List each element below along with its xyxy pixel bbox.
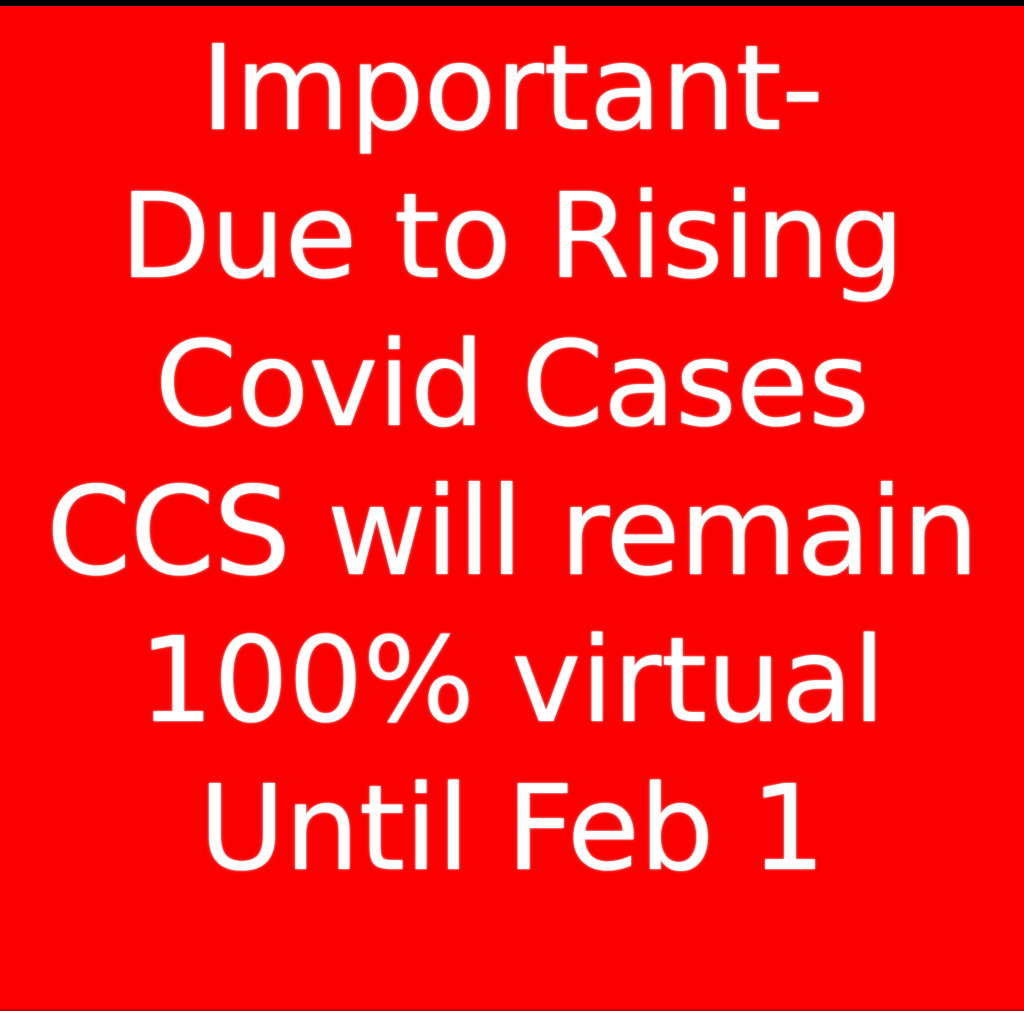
- announcement-poster: Important- Due to Rising Covid Cases CCS…: [0, 0, 1024, 1011]
- announcement-message: Important- Due to Rising Covid Cases CCS…: [0, 0, 1024, 902]
- message-line-6: Until Feb 1: [0, 754, 1024, 902]
- message-line-1: Important-: [0, 14, 1024, 162]
- message-line-5: 100% virtual: [0, 606, 1024, 754]
- message-line-2: Due to Rising: [0, 162, 1024, 310]
- top-letterbox-bar: [0, 0, 1024, 6]
- message-line-3: Covid Cases: [0, 310, 1024, 458]
- message-line-4: CCS will remain: [0, 458, 1024, 606]
